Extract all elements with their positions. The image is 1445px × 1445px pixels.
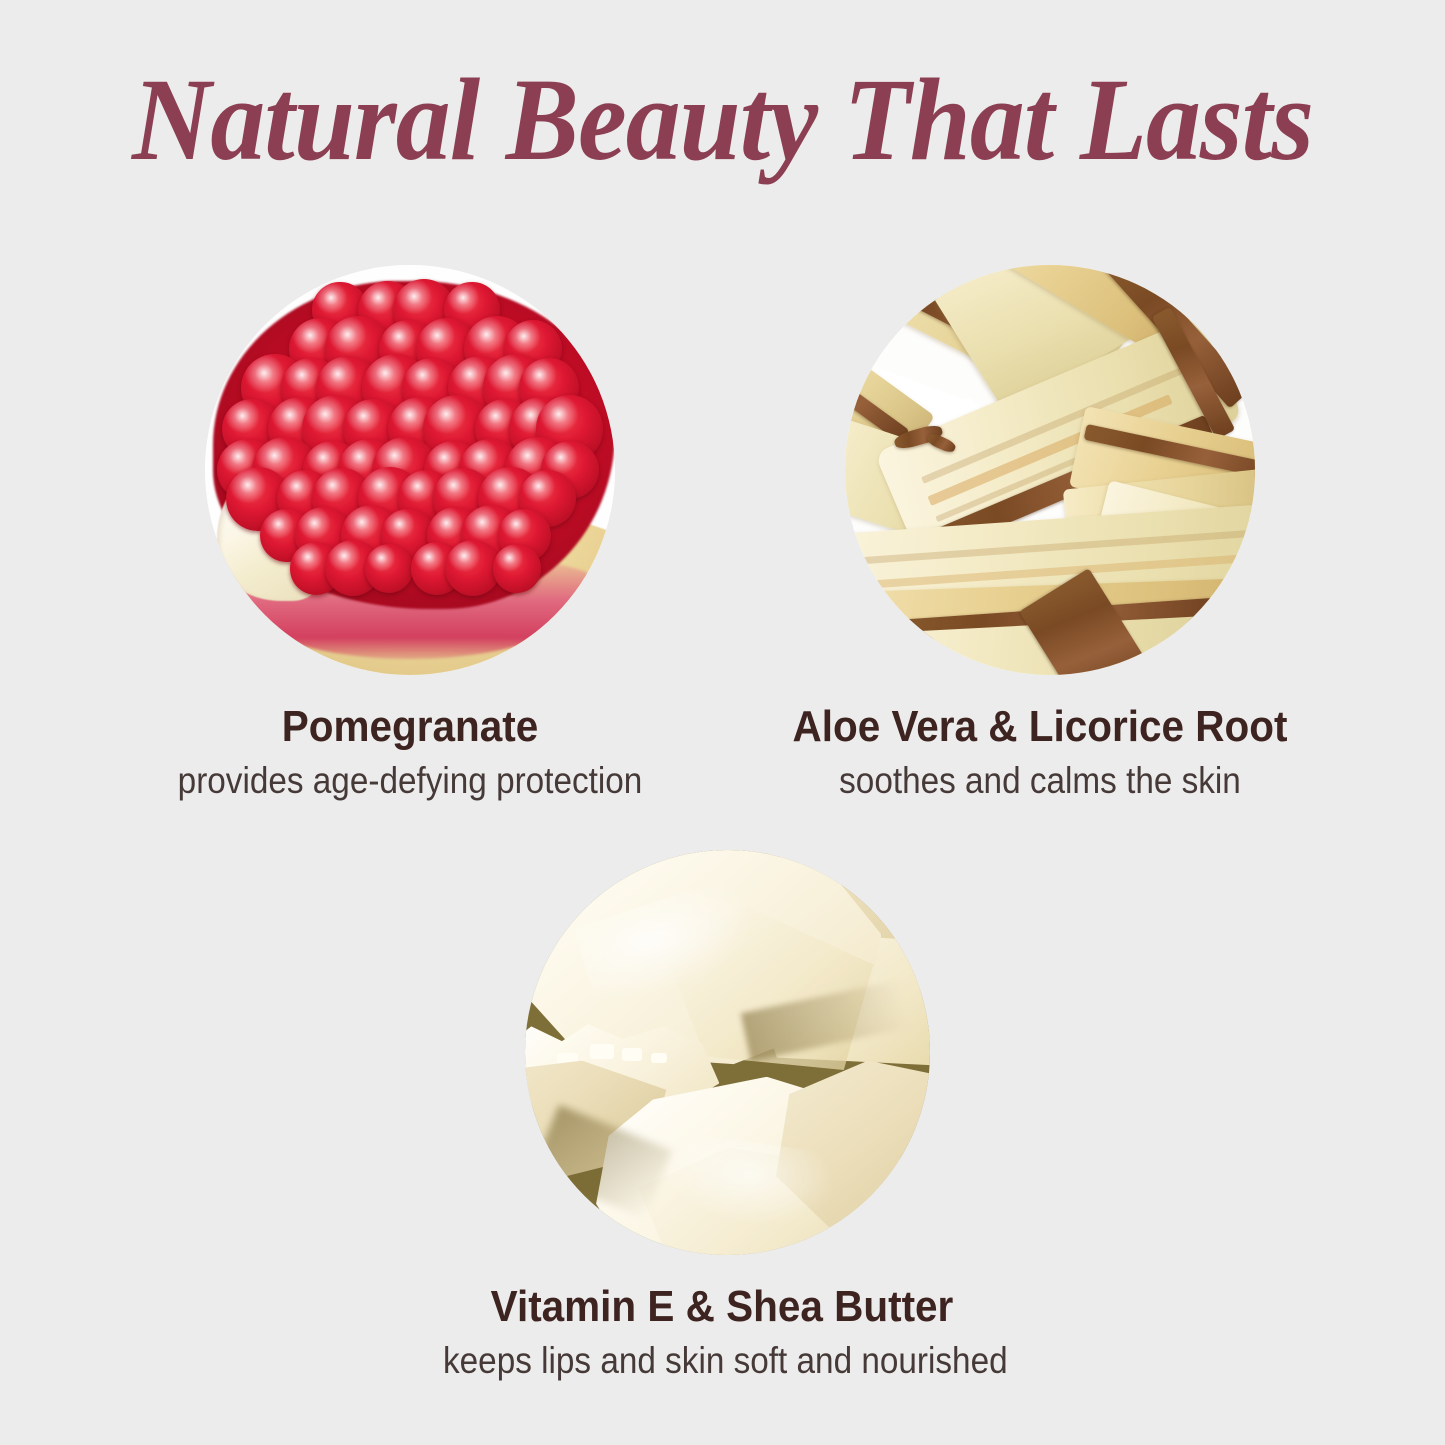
page-title: Natural Beauty That Lasts	[51, 58, 1395, 182]
ingredient-subtitle-pomegranate: provides age-defying protection	[131, 762, 689, 799]
ingredient-subtitle-shea-butter: keeps lips and skin soft and nourished	[443, 1342, 1001, 1379]
caption-pomegranate: Pomegranate provides age-defying protect…	[100, 705, 720, 799]
infographic-canvas: Natural Beauty That Lasts	[0, 0, 1445, 1445]
ingredient-title-pomegranate: Pomegranate	[125, 705, 695, 749]
pomegranate-illustration	[205, 265, 615, 675]
caption-licorice-root: Aloe Vera & Licorice Root soothes and ca…	[730, 705, 1350, 799]
ingredient-title-licorice-root: Aloe Vera & Licorice Root	[755, 705, 1325, 749]
shea-butter-illustration	[525, 850, 930, 1255]
licorice-root-illustration	[845, 265, 1255, 675]
pomegranate-photo	[205, 265, 615, 675]
shea-butter-photo	[525, 850, 930, 1255]
ingredient-title-shea-butter: Vitamin E & Shea Butter	[437, 1285, 1007, 1329]
ingredient-subtitle-licorice-root: soothes and calms the skin	[761, 762, 1319, 799]
caption-shea-butter: Vitamin E & Shea Butter keeps lips and s…	[412, 1285, 1032, 1379]
licorice-root-photo	[845, 265, 1255, 675]
